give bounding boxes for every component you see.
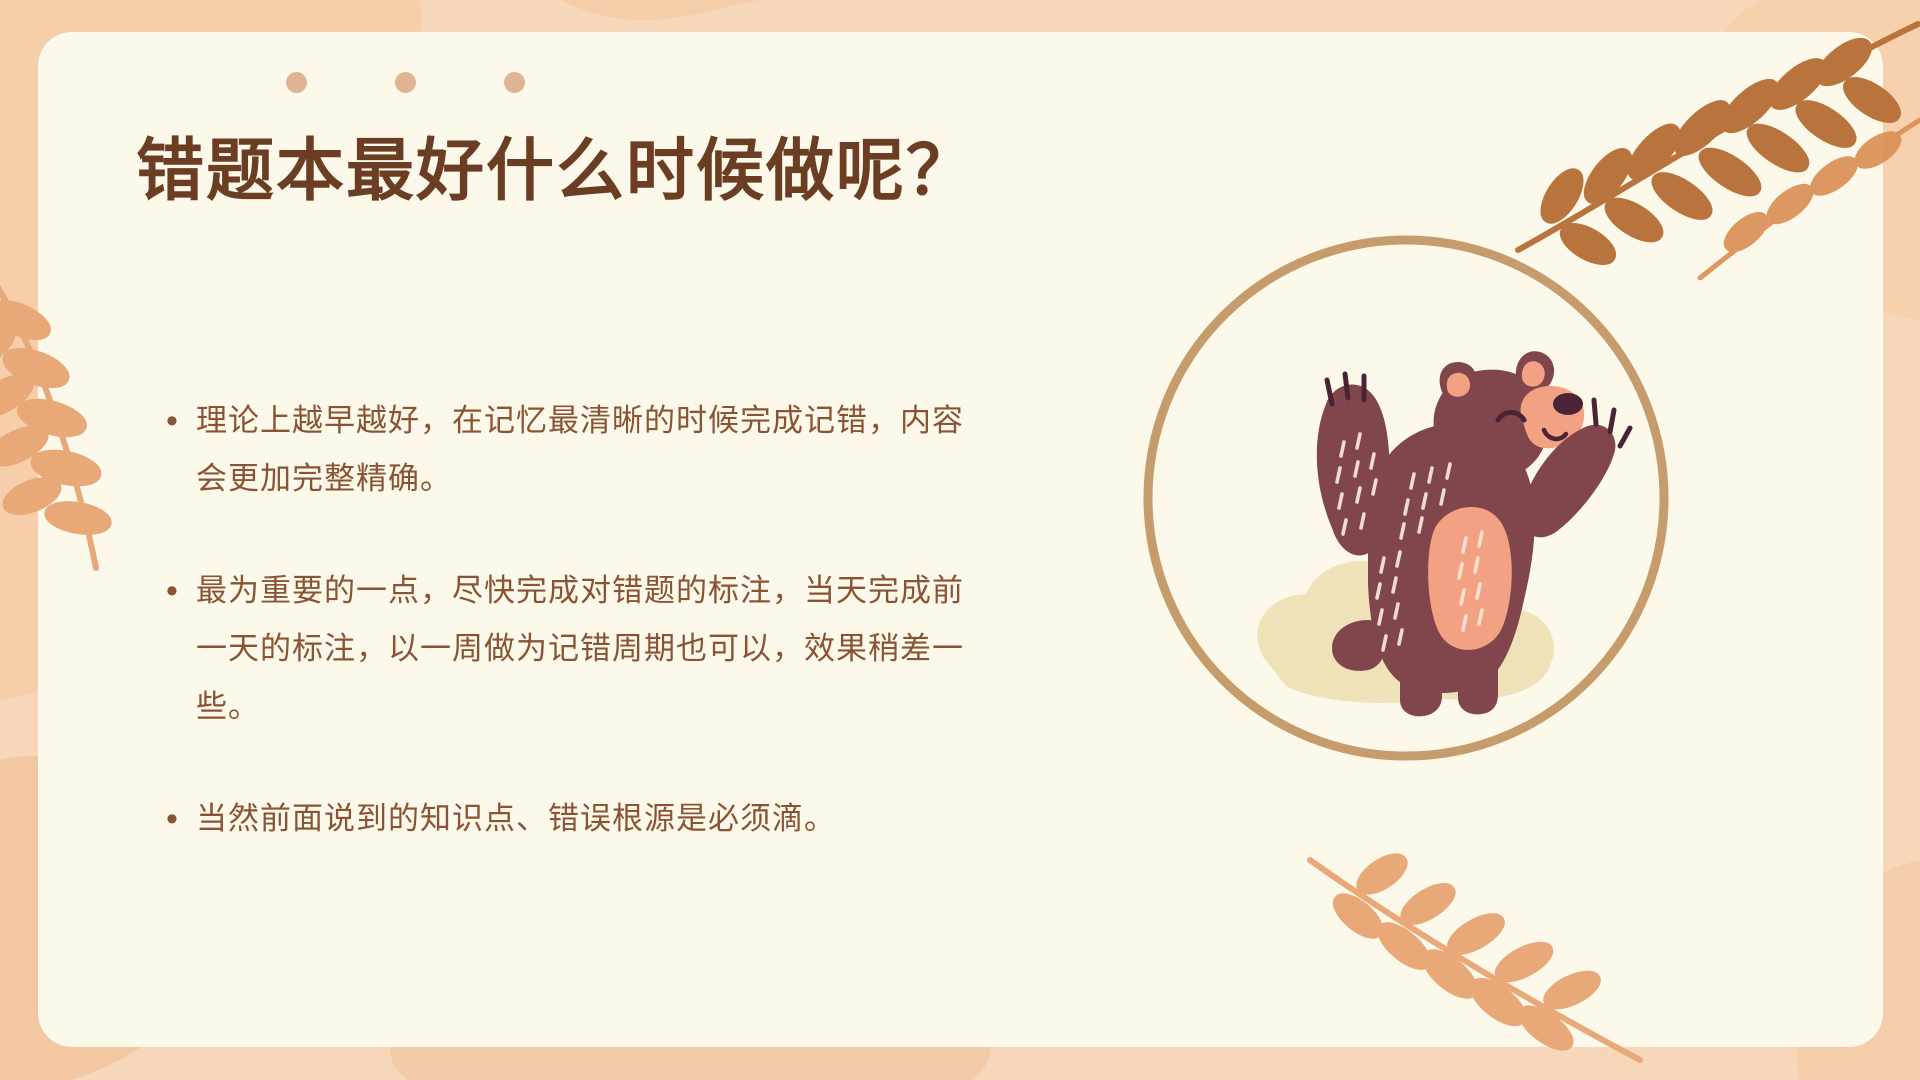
page-title: 错题本最好什么时候做呢？ [136,134,976,209]
list-item: • 理论上越早越好，在记忆最清晰的时候完成记错，内容会更加完整精确。 [166,392,966,508]
list-item: • 最为重要的一点，尽快完成对错题的标注，当天完成前一天的标注，以一周做为记错周… [166,562,966,736]
dot-1-icon [286,72,307,93]
bullet-marker-icon: • [166,392,196,450]
bullet-list: • 理论上越早越好，在记忆最清晰的时候完成记错，内容会更加完整精确。 • 最为重… [166,392,966,848]
bullet-text-1: 理论上越早越好，在记忆最清晰的时候完成记错，内容会更加完整精确。 [196,392,966,508]
slide-card: 错题本最好什么时候做呢？ • 理论上越早越好，在记忆最清晰的时候完成记错，内容会… [38,32,1883,1047]
bullet-marker-icon: • [166,790,196,848]
decorative-dots [286,72,525,93]
list-item: • 当然前面说到的知识点、错误根源是必须滴。 [166,790,966,848]
bear-waving-illustration [1136,228,1676,768]
dot-3-icon [504,72,525,93]
dot-2-icon [395,72,416,93]
bullet-marker-icon: • [166,562,196,620]
bullet-text-2: 最为重要的一点，尽快完成对错题的标注，当天完成前一天的标注，以一周做为记错周期也… [196,562,966,736]
bullet-text-3: 当然前面说到的知识点、错误根源是必须滴。 [196,790,966,848]
